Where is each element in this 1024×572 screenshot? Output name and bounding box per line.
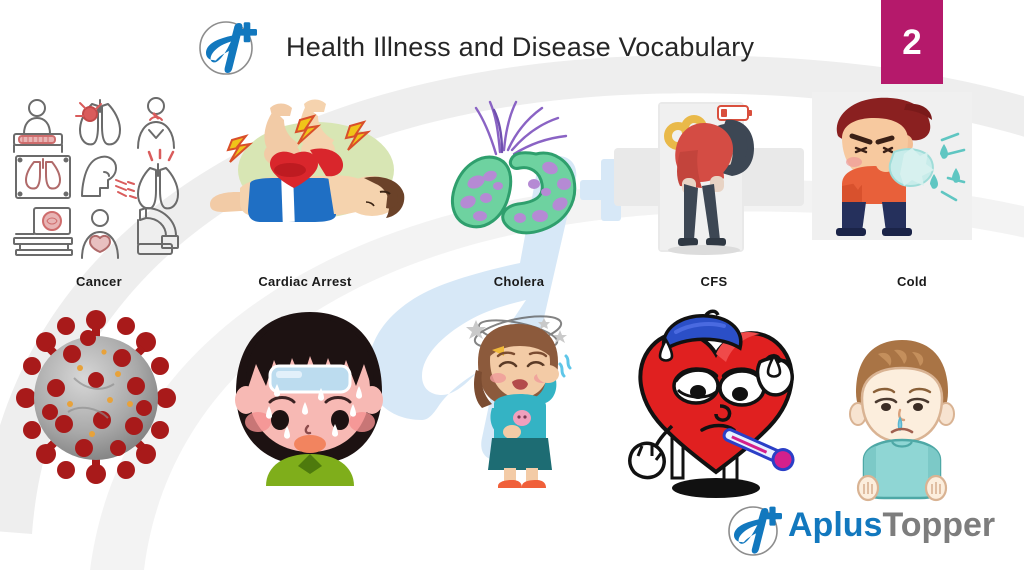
brand-name-part1: Aplus (788, 506, 882, 544)
vocabulary-item-heart-attack[interactable]: Heart Attack (614, 304, 814, 532)
vocabulary-label-cold: Cold (812, 274, 1012, 289)
vocabulary-item-corona-virus[interactable]: Corona Virus (4, 304, 194, 532)
slide-header: Health Illness and Disease Vocabulary 2 (0, 0, 1024, 92)
aplus-logo-icon (726, 502, 784, 558)
cholera-bacteria-illustration (424, 92, 610, 262)
slide: Health Illness and Disease Vocabulary 2 (0, 0, 1024, 572)
brand-footer: AplusTopper (726, 500, 1016, 562)
vocabulary-label-cfs: CFS (614, 274, 814, 289)
cpr-cardiac-arrest-illustration (196, 92, 414, 267)
aplus-logo-icon (196, 16, 260, 78)
chronic-fatigue-syndrome-illustration (614, 92, 810, 264)
vocabulary-item-cholera[interactable]: Cholera (424, 92, 614, 297)
vocabulary-item-cfs[interactable]: CFS (614, 92, 814, 297)
vocabulary-item-fever[interactable]: Fever (196, 304, 414, 532)
sneezing-man-cold-illustration (812, 92, 980, 240)
brand-name-part2: Topper (882, 506, 995, 544)
coronavirus-particle-illustration (18, 308, 174, 486)
vocabulary-item-cold[interactable]: Cold (812, 92, 1012, 297)
vocabulary-item-headache[interactable]: Headache (424, 304, 614, 532)
headache-girl-illustration (448, 304, 590, 494)
sick-heart-character-illustration (620, 306, 812, 500)
vocabulary-label-cardiac-arrest: Cardiac Arrest (196, 274, 414, 289)
feverish-boy-illustration (214, 304, 404, 486)
cancer-icon-grid-illustration (4, 92, 182, 262)
vocabulary-label-cancer: Cancer (4, 274, 194, 289)
brand-name: AplusTopper (788, 508, 995, 542)
page-number-badge: 2 (881, 0, 943, 84)
vocabulary-grid: Cancer (0, 92, 1024, 532)
vocabulary-item-runny-nose[interactable]: Runny nose (812, 304, 1012, 532)
vocabulary-label-cholera: Cholera (424, 274, 614, 289)
runny-nose-boy-illustration (836, 336, 966, 500)
vocabulary-item-cardiac-arrest[interactable]: Cardiac Arrest (196, 92, 414, 297)
page-title: Health Illness and Disease Vocabulary (286, 32, 754, 63)
page-number-value: 2 (902, 25, 921, 60)
vocabulary-item-cancer[interactable]: Cancer (4, 92, 194, 297)
